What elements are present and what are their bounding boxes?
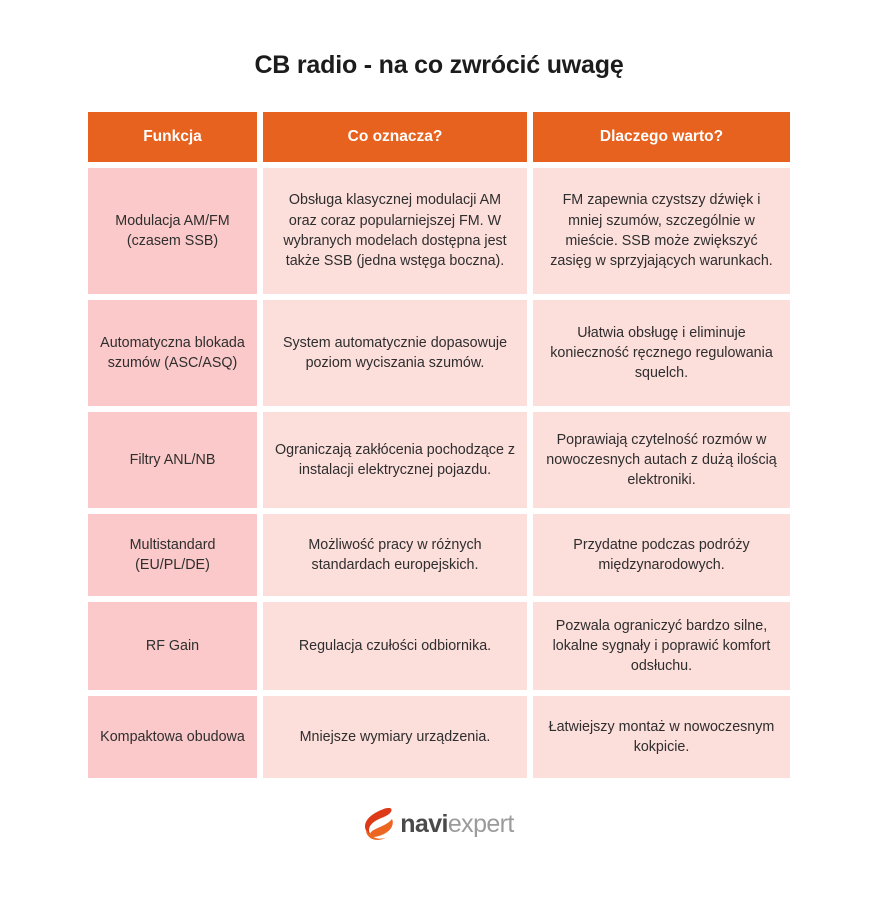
brand-logo: naviexpert [0, 808, 878, 840]
table-row: Modulacja AM/FM (czasem SSB) Obsługa kla… [88, 168, 790, 294]
table-row: Automatyczna blokada szumów (ASC/ASQ) Sy… [88, 300, 790, 406]
cell-benefit: Łatwiejszy montaż w nowoczesnym kokpicie… [533, 696, 790, 778]
cell-feature: Automatyczna blokada szumów (ASC/ASQ) [88, 300, 257, 406]
cell-meaning: Regulacja czułości odbiornika. [263, 602, 527, 690]
cell-benefit: Ułatwia obsługę i eliminuje konieczność … [533, 300, 790, 406]
table-row: RF Gain Regulacja czułości odbiornika. P… [88, 602, 790, 690]
page-title: CB radio - na co zwrócić uwagę [0, 50, 878, 80]
cell-benefit: FM zapewnia czystszy dźwięk i mniej szum… [533, 168, 790, 294]
cell-benefit: Pozwala ograniczyć bardzo silne, lokalne… [533, 602, 790, 690]
brand-wordmark-primary: navi [400, 810, 448, 838]
infographic-page: CB radio - na co zwrócić uwagę Funkcja C… [0, 0, 878, 900]
column-header-dlaczego-warto: Dlaczego warto? [533, 112, 790, 162]
column-header-funkcja: Funkcja [88, 112, 257, 162]
cell-benefit: Przydatne podczas podróży międzynarodowy… [533, 514, 790, 596]
cell-meaning: Obsługa klasycznej modulacji AM oraz cor… [263, 168, 527, 294]
brand-wordmark: naviexpert [400, 812, 514, 837]
cell-feature: Multistandard (EU/PL/DE) [88, 514, 257, 596]
cell-meaning: Mniejsze wymiary urządzenia. [263, 696, 527, 778]
table-row: Filtry ANL/NB Ograniczają zakłócenia poc… [88, 412, 790, 508]
cell-meaning: Ograniczają zakłócenia pochodzące z inst… [263, 412, 527, 508]
cell-feature: Filtry ANL/NB [88, 412, 257, 508]
cell-meaning: System automatycznie dopasowuje poziom w… [263, 300, 527, 406]
table-row: Kompaktowa obudowa Mniejsze wymiary urzą… [88, 696, 790, 778]
cell-meaning: Możliwość pracy w różnych standardach eu… [263, 514, 527, 596]
table-header-row: Funkcja Co oznacza? Dlaczego warto? [88, 112, 790, 162]
cell-feature: RF Gain [88, 602, 257, 690]
naviexpert-flame-icon [364, 808, 393, 840]
brand-wordmark-secondary: expert [448, 810, 514, 838]
column-header-co-oznacza: Co oznacza? [263, 112, 527, 162]
table-row: Multistandard (EU/PL/DE) Możliwość pracy… [88, 514, 790, 596]
cell-feature: Kompaktowa obudowa [88, 696, 257, 778]
cell-benefit: Poprawiają czytelność rozmów w nowoczesn… [533, 412, 790, 508]
features-table: Funkcja Co oznacza? Dlaczego warto? Modu… [88, 112, 790, 778]
cell-feature: Modulacja AM/FM (czasem SSB) [88, 168, 257, 294]
